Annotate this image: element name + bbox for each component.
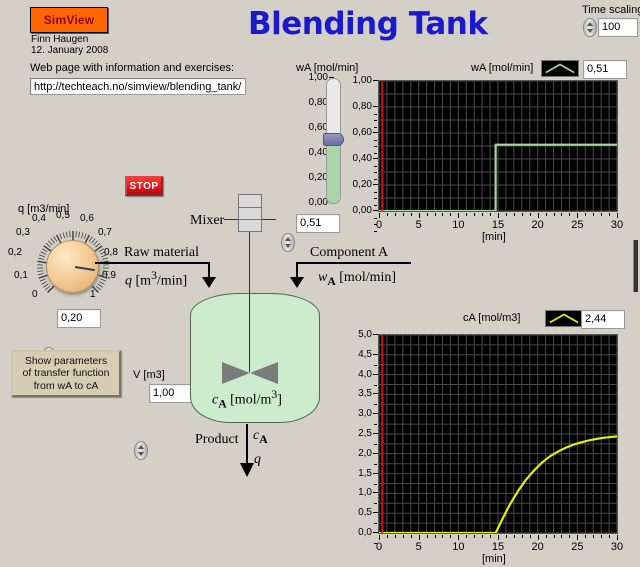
wa-slider[interactable]: 1,00 0,80 0,60 0,40 0,20 0,00 [278, 78, 348, 208]
wa-chart-x-minor-tick [474, 213, 475, 216]
wa-chart-x-minor-tick [435, 213, 436, 216]
ca-chart-y-tick: 0,0 [350, 529, 372, 537]
ca-chart-y-tick: 4,0 [350, 371, 372, 379]
ca-chart-x-minor-tick [585, 535, 586, 538]
ca-chart-x-minor-tick [395, 535, 396, 538]
ca-chart-x-minor-tick [569, 535, 570, 538]
wa-chart-x-minor-tick [450, 213, 451, 216]
author-name: Finn Haugen [31, 34, 88, 45]
ca-chart-x-minor-tick [506, 535, 507, 538]
ca-chart-y-tick: 1,0 [350, 489, 372, 497]
wa-chart-x-tick: 10 [446, 219, 470, 231]
ca-chart-x-minor-tick [546, 535, 547, 538]
ca-chart-x-unit: [min] [482, 553, 506, 565]
ca-chart-y-tick: 2,0 [350, 450, 372, 458]
wa-chart-y-minor-tick [374, 205, 377, 206]
ca-chart-y-minor-tick [374, 404, 377, 405]
wa-tick-label: 0,40 [284, 149, 328, 157]
wa-chart-y-minor-tick [374, 114, 377, 115]
ca-chart-x-tick-mark [538, 535, 539, 540]
ca-chart-x-tick-mark [458, 535, 459, 540]
wa-chart-y-minor-tick [374, 127, 377, 128]
knob-tick-label: 0,3 [16, 227, 30, 238]
q-knob[interactable]: 0,4 0,5 0,6 0,3 0,7 0,2 0,8 0,1 0,9 0 1 [8, 215, 128, 320]
wa-chart-y-tick: 0,80 [346, 103, 372, 111]
wa-chart-x-minor-tick [490, 213, 491, 216]
panel-edge-divider [633, 240, 638, 292]
ca-chart-x-tick: 5 [407, 541, 431, 553]
wa-chart-y-tick: 0,00 [346, 207, 372, 215]
ca-chart-x-tick-mark [498, 535, 499, 540]
ca-chart-plot[interactable] [378, 334, 618, 534]
wa-chart-x-tick-mark [419, 213, 420, 218]
wa-chart-y-minor-tick [374, 140, 377, 141]
q-value-input[interactable]: 0,20 [57, 309, 101, 328]
simview-logo-label: SimView [44, 13, 95, 27]
wa-chart-y-tick: 0,40 [346, 155, 372, 163]
ca-chart-x-minor-tick [442, 535, 443, 538]
wa-chart-y-minor-tick [374, 166, 377, 167]
q-knob-ticks [34, 228, 112, 306]
wa-chart-x-minor-tick [514, 213, 515, 216]
time-scaling-input[interactable]: 100 [598, 18, 638, 37]
ca-tank-label: cA [mol/m3] [212, 388, 282, 410]
wa-chart-y-minor-tick [374, 192, 377, 193]
wa-chart-x-minor-tick [561, 213, 562, 216]
ca-chart-x-tick-mark [577, 535, 578, 540]
wa-chart-x-minor-tick [442, 213, 443, 216]
wa-chart-x-tick-mark [379, 213, 380, 218]
wa-tick-label: 0,20 [284, 174, 328, 182]
mixer-shaft [249, 232, 250, 372]
wa-chart-legend-icon[interactable] [541, 60, 579, 77]
ca-chart-y-minor-tick [374, 503, 377, 504]
knob-tick-label: 0,4 [32, 213, 46, 224]
ca-chart-x-minor-tick [554, 535, 555, 538]
mixer-motor-line [238, 207, 262, 208]
stop-button[interactable]: STOP [125, 176, 163, 196]
wa-slider-fill [327, 140, 340, 203]
ca-chart-y-minor-tick [374, 385, 377, 386]
wa-chart-x-tick-mark [538, 213, 539, 218]
wa-chart-y-minor-tick [374, 179, 377, 180]
wa-tick-label: 0,60 [284, 124, 328, 132]
ca-chart-x-tick-mark [617, 535, 618, 540]
knob-tick-label: 0,1 [14, 270, 28, 281]
component-a-pipe [296, 262, 411, 264]
wa-chart-x-minor-tick [466, 213, 467, 216]
ca-chart-y-minor-tick [374, 365, 377, 366]
page-title: Blending Tank [248, 6, 528, 42]
wa-chart-x-tick-mark [498, 213, 499, 218]
ca-chart-x-minor-tick [601, 535, 602, 538]
wa-chart-x-tick: 0 [367, 219, 391, 231]
wa-chart-x-minor-tick [395, 213, 396, 216]
wa-chart-x-tick: 15 [486, 219, 510, 231]
wa-chart-x-minor-tick [522, 213, 523, 216]
ca-chart-y-minor-tick [374, 464, 377, 465]
wa-chart-x-tick: 5 [407, 219, 431, 231]
ca-chart-x-tick: 15 [486, 541, 510, 553]
author-date: 12. January 2008 [31, 45, 108, 56]
wa-slider-thumb[interactable] [323, 133, 344, 146]
ca-chart-y-tick: 3,5 [350, 390, 372, 398]
ca-chart-x-minor-tick [435, 535, 436, 538]
product-arrow-icon [240, 463, 254, 477]
ca-chart-x-minor-tick [609, 535, 610, 538]
wa-slider-scale: 1,00 0,80 0,60 0,40 0,20 0,00 [284, 78, 328, 204]
wa-chart-x-tick: 30 [605, 219, 629, 231]
ca-chart-x-minor-tick [411, 535, 412, 538]
wa-chart-x-minor-tick [403, 213, 404, 216]
ca-chart-y-tick: 0,5 [350, 509, 372, 517]
show-transfer-function-parameters-button[interactable]: Show parameters of transfer function fro… [11, 350, 121, 397]
mixer-label: Mixer [190, 213, 224, 229]
wa-chart-x-tick: 20 [526, 219, 550, 231]
ca-chart-x-minor-tick [530, 535, 531, 538]
wa-chart-x-tick: 25 [565, 219, 589, 231]
raw-material-label: Raw material [124, 245, 199, 261]
stop-button-label: STOP [129, 181, 158, 192]
ca-chart-y-minor-tick [374, 444, 377, 445]
knob-tick-label: 0,6 [80, 213, 94, 224]
ca-chart-x-minor-tick [593, 535, 594, 538]
wa-chart-x-minor-tick [585, 213, 586, 216]
wa-value-input[interactable]: 0,51 [296, 214, 340, 233]
volume-label: V [m3] [133, 369, 165, 381]
ca-chart-x-minor-tick [450, 535, 451, 538]
ca-chart-x-tick: 20 [526, 541, 550, 553]
wa-chart-x-minor-tick [506, 213, 507, 216]
ca-chart-x-minor-tick [514, 535, 515, 538]
wa-chart-y-minor-tick [374, 120, 377, 121]
url-input[interactable]: http://techteach.no/simview/blending_tan… [30, 78, 246, 95]
wa-tick-label: 1,00 [284, 74, 328, 82]
wa-chart-plot[interactable] [378, 80, 618, 212]
mixer-bracket [262, 219, 276, 220]
wa-chart-x-minor-tick [482, 213, 483, 216]
wa-chart-x-minor-tick [530, 213, 531, 216]
ca-chart-x-minor-tick [490, 535, 491, 538]
wa-chart-y-minor-tick [374, 153, 377, 154]
wa-chart-x-tick-mark [458, 213, 459, 218]
wa-chart-x-minor-tick [387, 213, 388, 216]
wa-chart-x-minor-tick [411, 213, 412, 216]
wa-inlet-label: wA [mol/min] [318, 270, 396, 288]
ca-chart-y-tick: 4,5 [350, 351, 372, 359]
ca-chart-x-tick-mark [379, 535, 380, 540]
time-scaling-label: Time scaling [582, 4, 640, 16]
knob-tick-label: 0,2 [8, 247, 22, 258]
ca-chart-y-tick: 5,0 [350, 331, 372, 339]
ca-chart-x-minor-tick [474, 535, 475, 538]
ca-chart-y-minor-tick [374, 484, 377, 485]
mixer-motor-line [238, 219, 262, 220]
web-page-label: Web page with information and exercises: [30, 62, 234, 74]
mixer-motor-icon [238, 194, 262, 232]
ca-chart-x-minor-tick [403, 535, 404, 538]
wa-tick-label: 0,80 [284, 99, 328, 107]
time-scaling-spinner[interactable] [583, 18, 597, 37]
ca-chart-x-minor-tick [522, 535, 523, 538]
wa-chart-x-minor-tick [546, 213, 547, 216]
ca-chart-legend-icon[interactable] [545, 310, 583, 327]
ca-chart-y-tick: 1,5 [350, 470, 372, 478]
ca-chart-y-tick: 3,0 [350, 410, 372, 418]
wa-value-spinner[interactable] [281, 233, 295, 252]
wa-chart-x-tick-mark [577, 213, 578, 218]
ca-chart-x-tick: 25 [565, 541, 589, 553]
ca-chart-title: cA [mol/m3] [463, 312, 520, 324]
ca-chart-x-tick: 30 [605, 541, 629, 553]
wa-tick-label: 0,00 [284, 199, 328, 207]
wa-chart-x-minor-tick [554, 213, 555, 216]
ca-chart-x-minor-tick [466, 535, 467, 538]
wa-chart-x-minor-tick [569, 213, 570, 216]
q-inlet-label: q [m3/min] [125, 269, 187, 290]
wa-chart-x-unit: [min] [482, 231, 506, 243]
ca-chart-y-minor-tick [374, 424, 377, 425]
wa-chart-x-minor-tick [601, 213, 602, 216]
ca-chart-y-minor-tick [374, 523, 377, 524]
ca-chart-x-tick: 10 [446, 541, 470, 553]
component-a-label: Component A [310, 245, 388, 261]
show-params-line-1: Show parameters [25, 355, 107, 368]
volume-spinner[interactable] [134, 441, 148, 460]
product-label: Product [195, 432, 239, 448]
ca-chart-x-minor-tick [387, 535, 388, 538]
wa-chart-x-minor-tick [593, 213, 594, 216]
wa-chart-y-tick: 0,20 [346, 181, 372, 189]
q-outlet-label: q [254, 452, 261, 468]
knob-tick-label: 0,5 [56, 210, 70, 221]
wa-chart-x-tick-mark [617, 213, 618, 218]
ca-chart-x-minor-tick [561, 535, 562, 538]
volume-input[interactable]: 1,00 [149, 384, 193, 403]
wa-chart-title: wA [mol/min] [471, 62, 533, 74]
product-pipe [246, 424, 248, 468]
mixer-bracket [224, 219, 238, 220]
show-params-line-2: of transfer function [23, 367, 110, 380]
wa-chart-y-tick: 0,60 [346, 129, 372, 137]
ca-outlet-label: cA [253, 428, 268, 446]
ca-chart-x-minor-tick [427, 535, 428, 538]
show-params-line-3: from wA to cA [34, 380, 99, 393]
raw-material-pipe [95, 262, 210, 264]
wa-chart-y-minor-tick [374, 172, 377, 173]
wa-chart-x-minor-tick [427, 213, 428, 216]
raw-material-arrow-icon [202, 277, 216, 288]
wa-chart-y-minor-tick [374, 198, 377, 199]
ca-chart-x-tick: 0 [367, 541, 391, 553]
wa-chart-value[interactable]: 0,51 [583, 60, 627, 79]
wa-chart-x-minor-tick [609, 213, 610, 216]
ca-chart-y-tick: 2,5 [350, 430, 372, 438]
simview-logo-button[interactable]: SimView [30, 7, 108, 33]
wa-chart-y-minor-tick [374, 146, 377, 147]
ca-chart-x-tick-mark [419, 535, 420, 540]
ca-chart-x-minor-tick [482, 535, 483, 538]
wa-chart-y-tick: 1,00 [346, 77, 372, 85]
ca-chart-value[interactable]: 2,44 [581, 310, 625, 329]
component-a-arrow-icon [290, 277, 304, 288]
